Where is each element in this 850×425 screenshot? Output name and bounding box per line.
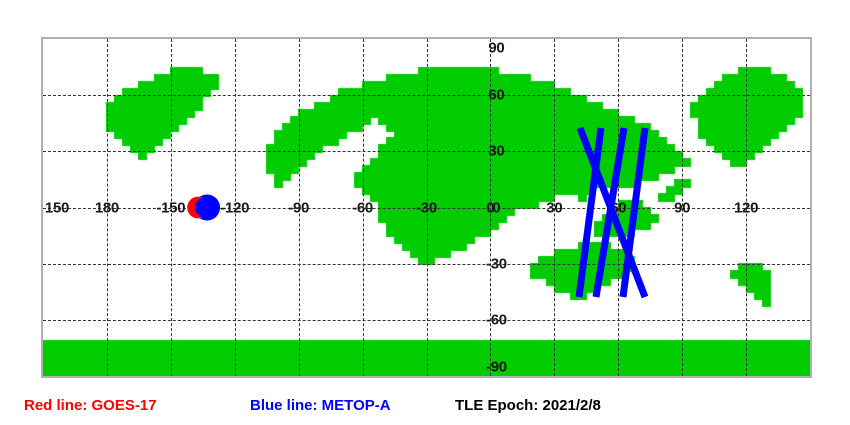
- lat-tick-label: -30: [486, 256, 507, 271]
- legend-red-line-goes17: Red line: GOES-17: [24, 398, 157, 413]
- lon-tick-label: -30: [416, 200, 437, 215]
- lat-tick-label: -90: [486, 360, 507, 375]
- lon-tick-label: -120: [220, 200, 249, 215]
- lon-tick-label: 120: [734, 200, 758, 215]
- lon-tick-label: -60: [352, 200, 373, 215]
- lon-tick-label: 0: [486, 200, 494, 215]
- lat-tick-label: -60: [486, 312, 507, 327]
- lon-tick-label: 90: [674, 200, 690, 215]
- lat-tick-label: 60: [488, 88, 504, 103]
- lon-tick-label: 60: [610, 200, 626, 215]
- world-map: 9060300-30-60-90-300306090120150180-150-…: [41, 37, 812, 378]
- lat-tick-label: 30: [488, 144, 504, 159]
- lon-tick-label: 150: [45, 200, 69, 215]
- legend-bar: Red line: GOES-17 Blue line: METOP-A TLE…: [0, 394, 850, 425]
- lon-tick-label: -150: [156, 200, 185, 215]
- legend-tle-epoch: TLE Epoch: 2021/2/8: [455, 398, 601, 413]
- lon-tick-label: 180: [95, 200, 119, 215]
- lon-tick-label: 30: [546, 200, 562, 215]
- legend-blue-line-metop-a: Blue line: METOP-A: [250, 398, 391, 413]
- lat-tick-label: 90: [488, 41, 504, 56]
- lon-tick-label: -90: [288, 200, 309, 215]
